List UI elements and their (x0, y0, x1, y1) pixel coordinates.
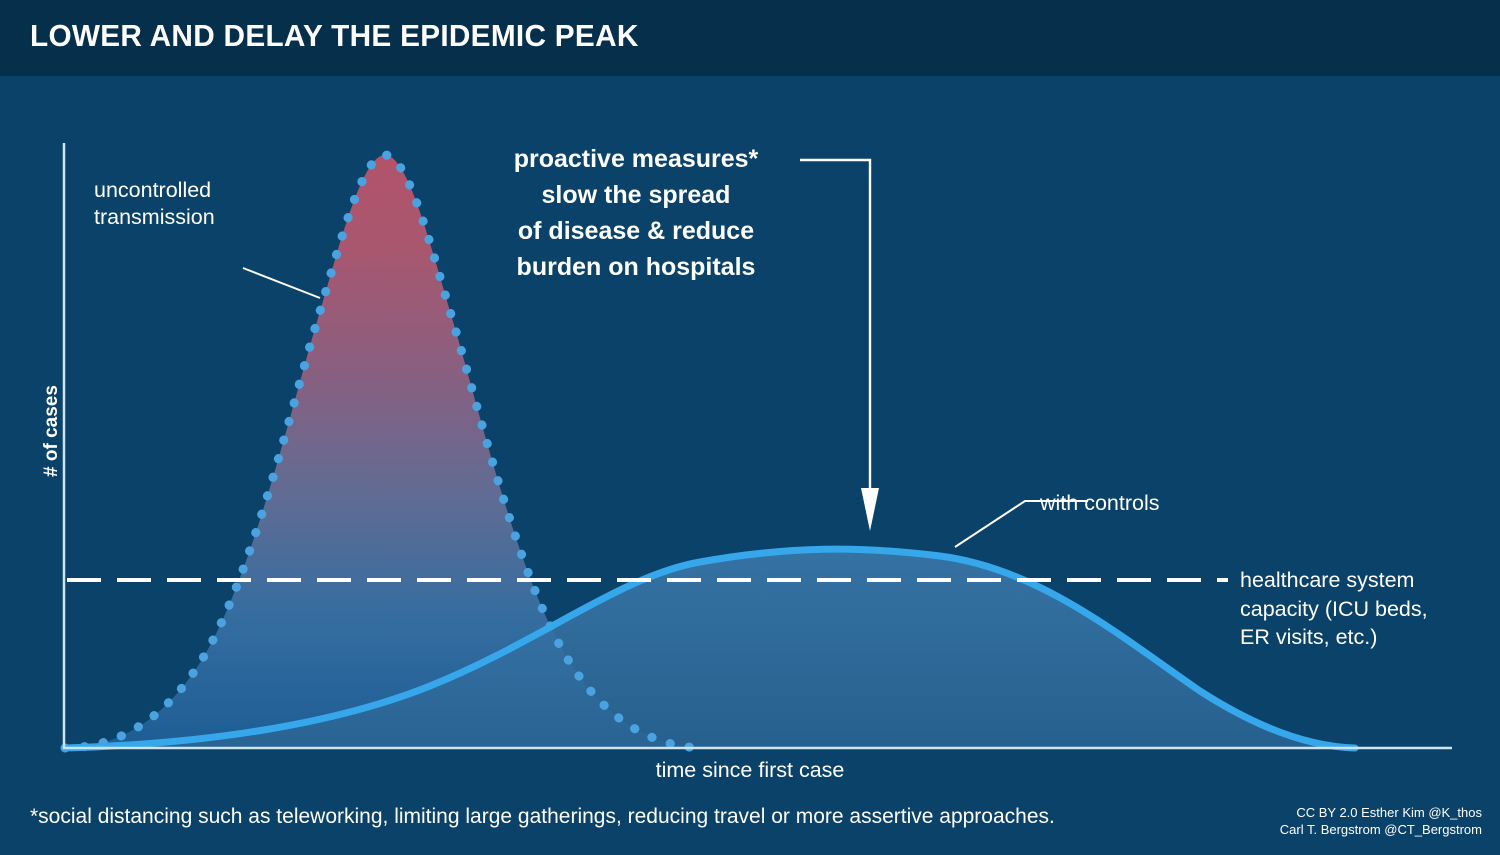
capacity-label-line3: ER visits, etc.) (1240, 623, 1428, 652)
uncontrolled-label-line2: transmission (94, 204, 215, 231)
uncontrolled-transmission-label: uncontrolled transmission (94, 177, 215, 231)
proactive-arrow-head (861, 488, 879, 531)
uncontrolled-label-line1: uncontrolled (94, 177, 215, 204)
uncontrolled-leader-line (243, 268, 320, 298)
x-axis-label: time since first case (0, 758, 1500, 783)
proactive-label-line2: slow the spread (484, 177, 788, 213)
header-bar: LOWER AND DELAY THE EPIDEMIC PEAK (0, 0, 1500, 76)
credits-block: CC BY 2.0 Esther Kim @K_thos Carl T. Ber… (1280, 805, 1482, 838)
healthcare-capacity-label: healthcare system capacity (ICU beds, ER… (1240, 566, 1428, 652)
footnote-text: *social distancing such as teleworking, … (30, 805, 1055, 829)
proactive-label-line4: burden on hospitals (484, 249, 788, 285)
infographic-poster: LOWER AND DELAY THE EPIDEMIC PEAK (0, 0, 1500, 855)
credits-line2: Carl T. Bergstrom @CT_Bergstrom (1280, 822, 1482, 839)
proactive-leader-line (800, 160, 870, 492)
capacity-label-line1: healthcare system (1240, 566, 1428, 595)
proactive-label-line3: of disease & reduce (484, 213, 788, 249)
y-axis-label: # of cases (41, 371, 63, 491)
credits-line1: CC BY 2.0 Esther Kim @K_thos (1280, 805, 1482, 822)
with-controls-label: with controls (1040, 491, 1160, 516)
page-title: LOWER AND DELAY THE EPIDEMIC PEAK (30, 18, 639, 54)
proactive-measures-label: proactive measures* slow the spread of d… (484, 141, 788, 285)
capacity-label-line2: capacity (ICU beds, (1240, 595, 1428, 624)
proactive-label-line1: proactive measures* (484, 141, 788, 177)
